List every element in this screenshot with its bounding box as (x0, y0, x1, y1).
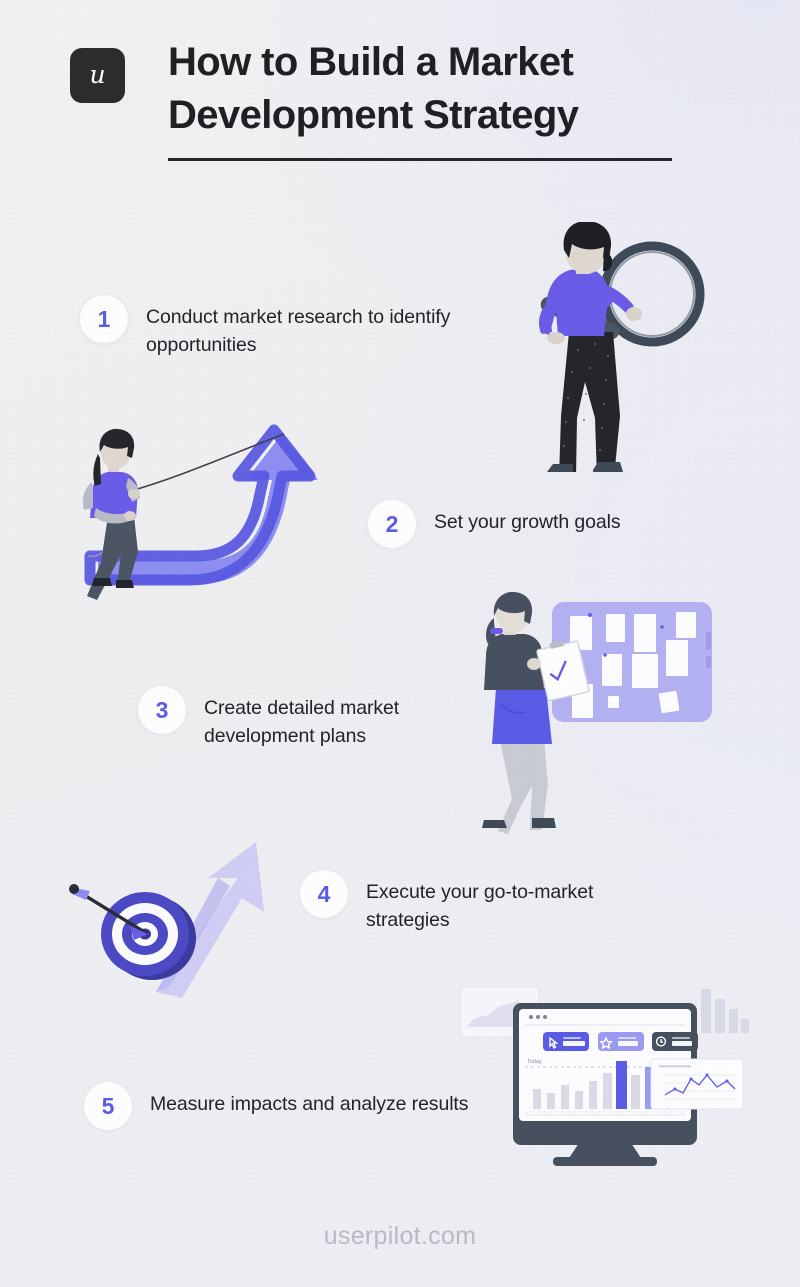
userpilot-logo: u (70, 48, 125, 103)
step-item-1: 1 Conduct market research to identify op… (80, 295, 480, 359)
step-number-badge: 1 (80, 295, 128, 343)
step-label: Set your growth goals (434, 500, 621, 537)
step-item-3: 3 Create detailed market development pla… (138, 686, 488, 750)
illustration-woman-with-magnifying-glass (500, 222, 710, 472)
step-number-badge: 4 (300, 870, 348, 918)
illustration-woman-pulling-growth-arrow (72, 420, 362, 605)
dashboard-section-label: Today (527, 1059, 542, 1065)
step-number-badge: 3 (138, 686, 186, 734)
step-item-4: 4 Execute your go-to-market strategies (300, 870, 670, 934)
infographic-poster: u How to Build a Market Development Stra… (0, 0, 800, 1287)
step-label: Measure impacts and analyze results (150, 1082, 468, 1119)
step-number-badge: 5 (84, 1082, 132, 1130)
title-underline (168, 158, 672, 161)
step-item-5: 5 Measure impacts and analyze results (84, 1082, 494, 1130)
logo-letter: u (89, 62, 105, 90)
step-label: Conduct market research to identify oppo… (146, 295, 480, 359)
step-label: Execute your go-to-market strategies (366, 870, 670, 934)
illustration-analytics-dashboard-monitor: Today (455, 975, 755, 1170)
illustration-target-with-arrow (60, 840, 300, 1000)
footer-site-url: userpilot.com (0, 1222, 800, 1251)
step-label: Create detailed market development plans (204, 686, 488, 750)
illustration-woman-at-planning-board (470, 592, 730, 847)
step-item-2: 2 Set your growth goals (368, 500, 698, 548)
step-number-badge: 2 (368, 500, 416, 548)
page-title: How to Build a Market Development Strate… (168, 36, 688, 142)
